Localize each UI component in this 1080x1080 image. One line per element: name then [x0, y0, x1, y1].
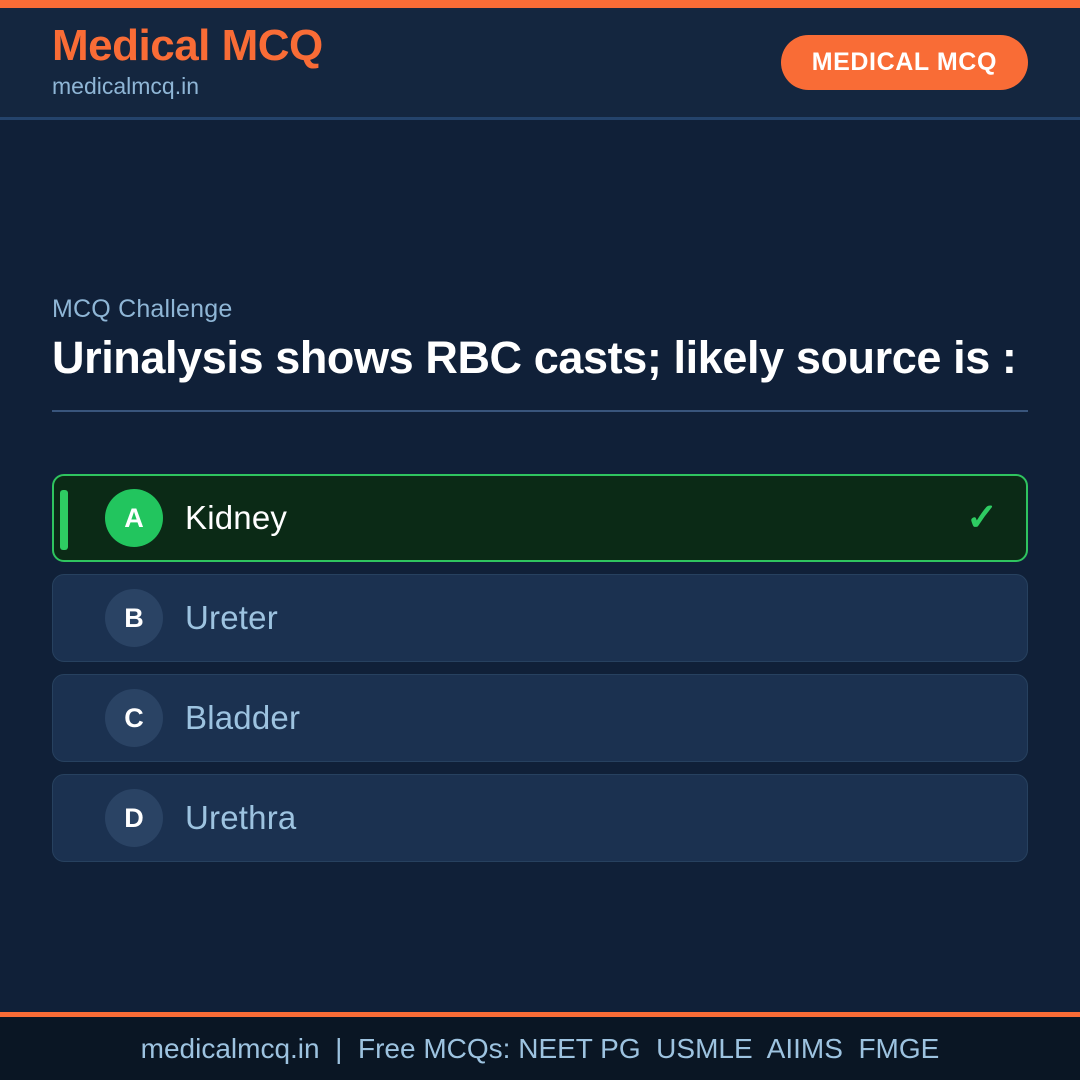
option-c[interactable]: C Bladder [52, 674, 1028, 762]
option-b[interactable]: B Ureter [52, 574, 1028, 662]
option-d[interactable]: D Urethra [52, 774, 1028, 862]
option-c-badge: C [105, 689, 163, 747]
option-d-label: Urethra [185, 799, 296, 837]
correct-accent-bar [60, 490, 68, 550]
brand-block: Medical MCQ medicalmcq.in [52, 23, 323, 103]
footer: medicalmcq.in | Free MCQs: NEET PG USMLE… [0, 1012, 1080, 1080]
option-a[interactable]: A Kidney ✓ [52, 474, 1028, 562]
option-b-badge: B [105, 589, 163, 647]
main-content: MCQ Challenge Urinalysis shows RBC casts… [0, 123, 1080, 1012]
option-a-badge: A [105, 489, 163, 547]
footer-text: medicalmcq.in | Free MCQs: NEET PG USMLE… [141, 1033, 940, 1065]
options-list: A Kidney ✓ B Ureter C Bladder D Urethra [52, 474, 1028, 874]
option-d-badge: D [105, 789, 163, 847]
brand-title: Medical MCQ [52, 23, 323, 70]
question-divider [52, 410, 1028, 412]
option-c-label: Bladder [185, 699, 300, 737]
header: Medical MCQ medicalmcq.in MEDICAL MCQ [0, 8, 1080, 120]
check-icon: ✓ [966, 499, 998, 537]
brand-badge: MEDICAL MCQ [781, 35, 1028, 90]
eyebrow-label: MCQ Challenge [52, 295, 1028, 324]
top-accent-bar [0, 0, 1080, 8]
option-b-label: Ureter [185, 599, 278, 637]
option-a-label: Kidney [185, 499, 287, 537]
question-block: MCQ Challenge Urinalysis shows RBC casts… [52, 295, 1028, 412]
brand-subtitle: medicalmcq.in [52, 72, 323, 102]
question-text: Urinalysis shows RBC casts; likely sourc… [52, 332, 1028, 384]
